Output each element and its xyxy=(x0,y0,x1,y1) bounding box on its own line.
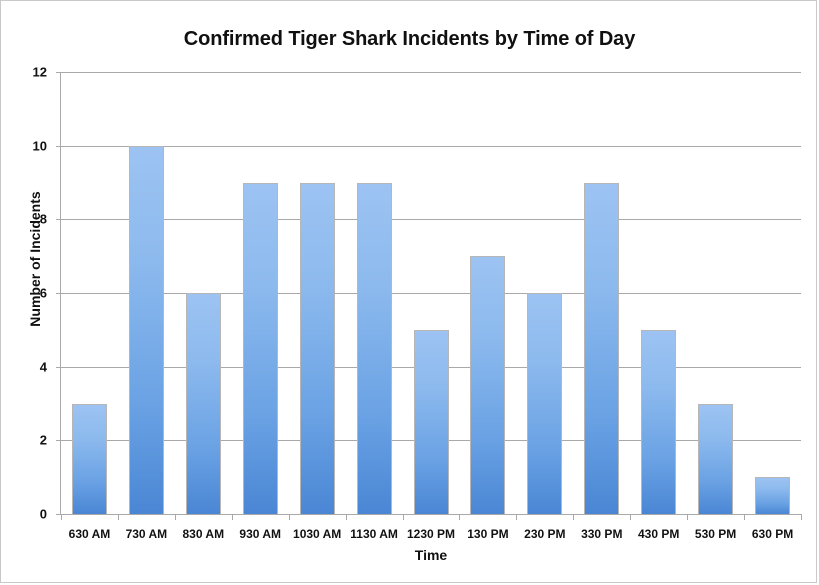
y-axis-tick: 10 xyxy=(56,146,61,147)
x-axis-tick xyxy=(744,514,745,520)
y-axis-tick-label: 0 xyxy=(40,507,47,522)
bar xyxy=(186,293,221,514)
y-axis-tick-label: 8 xyxy=(40,212,47,227)
bar xyxy=(414,330,449,514)
bar xyxy=(243,183,278,515)
gridline xyxy=(61,72,801,73)
x-axis-tick xyxy=(232,514,233,520)
gridline xyxy=(61,219,801,220)
y-axis-tick: 6 xyxy=(56,293,61,294)
bar xyxy=(641,330,676,514)
y-axis-tick-label: 6 xyxy=(40,286,47,301)
x-axis-tick xyxy=(516,514,517,520)
bar xyxy=(357,183,392,515)
x-axis-line xyxy=(61,514,801,515)
x-axis-tick xyxy=(403,514,404,520)
x-axis-tick xyxy=(687,514,688,520)
bar xyxy=(698,404,733,515)
gridline xyxy=(61,293,801,294)
bar xyxy=(755,477,790,514)
gridline xyxy=(61,146,801,147)
chart-container: Confirmed Tiger Shark Incidents by Time … xyxy=(0,0,817,583)
bar xyxy=(300,183,335,515)
y-axis-title: Number of Incidents xyxy=(27,159,43,359)
x-axis-title: Time xyxy=(61,547,801,563)
x-axis-tick-label: 630 PM xyxy=(738,527,808,541)
chart-title: Confirmed Tiger Shark Incidents by Time … xyxy=(1,28,818,51)
bar xyxy=(129,146,164,514)
x-axis-tick xyxy=(175,514,176,520)
bar xyxy=(527,293,562,514)
x-axis-tick xyxy=(61,514,62,520)
bar xyxy=(584,183,619,515)
y-axis-tick: 8 xyxy=(56,219,61,220)
y-axis-tick: 12 xyxy=(56,72,61,73)
x-axis-tick xyxy=(118,514,119,520)
bar xyxy=(72,404,107,515)
x-axis-tick xyxy=(289,514,290,520)
bar xyxy=(470,256,505,514)
x-axis-tick xyxy=(573,514,574,520)
y-axis-tick-label: 2 xyxy=(40,433,47,448)
y-axis-tick: 4 xyxy=(56,367,61,368)
x-axis-tick xyxy=(346,514,347,520)
plot-area: 024681012 630 AM730 AM830 AM930 AM1030 A… xyxy=(61,72,801,514)
y-axis-tick-label: 12 xyxy=(33,65,47,80)
x-axis-tick xyxy=(630,514,631,520)
y-axis-tick-label: 10 xyxy=(33,138,47,153)
y-axis-tick-label: 4 xyxy=(40,359,47,374)
x-axis-tick xyxy=(801,514,802,520)
y-axis-tick: 2 xyxy=(56,440,61,441)
x-axis-tick xyxy=(459,514,460,520)
